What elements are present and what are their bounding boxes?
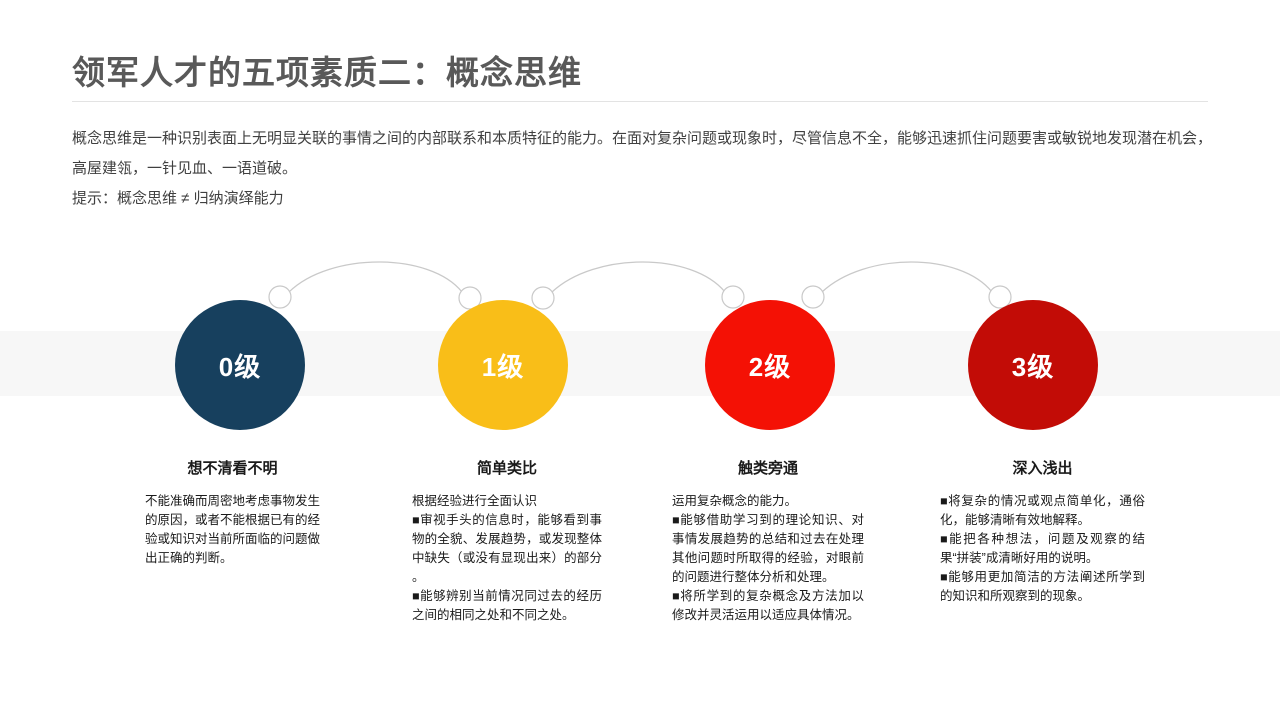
level-circles-row: 0级 1级 2级 3级 <box>0 300 1280 432</box>
intro-hint: 提示：概念思维 ≠ 归纳演绎能力 <box>72 184 1212 214</box>
level-circle-2[interactable]: 2级 <box>705 300 835 430</box>
level-heading-3: 深入浅出 <box>940 457 1145 478</box>
level-circle-3[interactable]: 3级 <box>968 300 1098 430</box>
level-column-0: 想不清看不明 不能准确而周密地考虑事物发生的原因，或者不能根据已有的经验或知识对… <box>145 457 320 568</box>
level-body-3: ■将复杂的情况或观点简单化，通俗化，能够清晰有效地解释。 ■能把各种想法，问题及… <box>940 492 1145 606</box>
level-circle-1[interactable]: 1级 <box>438 300 568 430</box>
level-heading-2: 触类旁通 <box>672 457 864 478</box>
level-column-1: 简单类比 根据经验进行全面认识 ■审视手头的信息时，能够看到事物的全貌、发展趋势… <box>412 457 602 625</box>
level-column-3: 深入浅出 ■将复杂的情况或观点简单化，通俗化，能够清晰有效地解释。 ■能把各种想… <box>940 457 1145 606</box>
page-title: 领军人才的五项素质二：概念思维 <box>72 46 582 94</box>
level-badge-label: 3级 <box>1012 347 1054 384</box>
arc-2-to-3 <box>822 262 992 292</box>
title-divider <box>72 101 1208 102</box>
arc-0-to-1 <box>289 262 462 292</box>
level-body-1: 根据经验进行全面认识 ■审视手头的信息时，能够看到事物的全貌、发展趋势，或发现整… <box>412 492 602 625</box>
level-heading-1: 简单类比 <box>412 457 602 478</box>
intro-text-block: 概念思维是一种识别表面上无明显关联的事情之间的内部联系和本质特征的能力。在面对复… <box>72 124 1212 214</box>
level-heading-0: 想不清看不明 <box>145 457 320 478</box>
arc-1-to-2 <box>552 262 725 292</box>
level-column-2: 触类旁通 运用复杂概念的能力。 ■能够借助学习到的理论知识、对事情发展趋势的总结… <box>672 457 864 625</box>
level-body-0: 不能准确而周密地考虑事物发生的原因，或者不能根据已有的经验或知识对当前所面临的问… <box>145 492 320 568</box>
level-circle-0[interactable]: 0级 <box>175 300 305 430</box>
level-badge-label: 2级 <box>749 347 791 384</box>
level-badge-label: 1级 <box>482 347 524 384</box>
level-badge-label: 0级 <box>219 347 261 384</box>
intro-paragraph: 概念思维是一种识别表面上无明显关联的事情之间的内部联系和本质特征的能力。在面对复… <box>72 130 1212 177</box>
level-body-2: 运用复杂概念的能力。 ■能够借助学习到的理论知识、对事情发展趋势的总结和过去在处… <box>672 492 864 625</box>
